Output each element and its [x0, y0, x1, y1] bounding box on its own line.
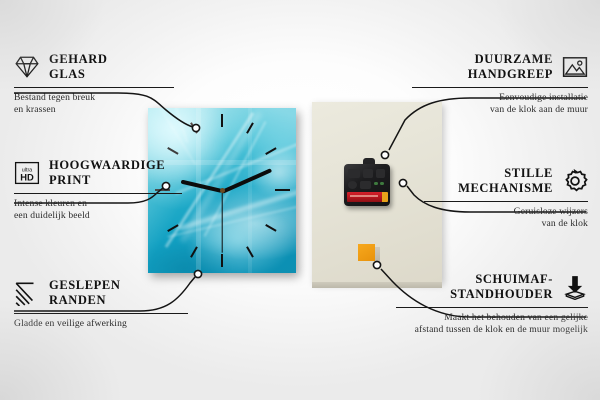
- feature-duurzame-handgreep: DUURZAME HANDGREEP Eenvoudige installati…: [412, 52, 588, 117]
- feature-title: GEHARD GLAS: [49, 52, 107, 82]
- feature-schuimafstandhouder: SCHUIMAF- STANDHOUDER Maakt het behouden…: [396, 272, 588, 337]
- clock-tick: [221, 254, 223, 267]
- down-arrow-pad-icon: [562, 274, 588, 300]
- feature-divider: [14, 313, 188, 314]
- feature-description: Gladde en veilige afwerking: [14, 318, 188, 331]
- feature-title-line1: DUURZAME: [468, 52, 553, 67]
- feature-description: Eenvoudige installatie van de klok aan d…: [412, 92, 588, 117]
- feature-divider: [14, 193, 182, 194]
- svg-text:HD: HD: [20, 171, 34, 182]
- feature-description: Bestand tegen breuk en krassen: [14, 92, 174, 117]
- clock-second-hand: [221, 191, 222, 253]
- feature-hoogwaardige-print: ultra HD HOOGWAARDIGE PRINT Intense kleu…: [14, 158, 182, 223]
- feature-title: STILLE MECHANISME: [458, 166, 553, 196]
- feature-title-line2: MECHANISME: [458, 181, 553, 196]
- battery-positive-tip: [382, 192, 388, 202]
- clock-center-cap: [220, 188, 225, 193]
- feature-description: Geruisloze wijzers van de klok: [424, 206, 588, 231]
- feature-heading: STILLE MECHANISME: [424, 166, 588, 196]
- infographic-canvas: GEHARD GLAS Bestand tegen breuk en krass…: [0, 0, 600, 400]
- feature-divider: [14, 87, 174, 88]
- aa-battery: [347, 192, 387, 202]
- feature-title-line2: GLAS: [49, 67, 107, 82]
- feature-title: HOOGWAARDIGE PRINT: [49, 158, 165, 188]
- picture-frame-icon: [562, 54, 588, 80]
- feature-heading: SCHUIMAF- STANDHOUDER: [396, 272, 588, 302]
- feature-heading: GESLEPEN RANDEN: [14, 278, 188, 308]
- feature-heading: DUURZAME HANDGREEP: [412, 52, 588, 82]
- gear-icon: [562, 168, 588, 194]
- feature-title-line1: GEHARD: [49, 52, 107, 67]
- feature-title-line2: RANDEN: [49, 293, 121, 308]
- feature-title-line2: PRINT: [49, 173, 165, 188]
- feature-heading: ultra HD HOOGWAARDIGE PRINT: [14, 158, 182, 188]
- feature-geslepen-randen: GESLEPEN RANDEN Gladde en veilige afwerk…: [14, 278, 188, 330]
- feature-divider: [396, 307, 588, 308]
- foam-spacer-pad: [358, 244, 375, 261]
- feature-title: GESLEPEN RANDEN: [49, 278, 121, 308]
- feature-title-line1: HOOGWAARDIGE: [49, 158, 165, 173]
- feature-description: Maakt het behouden van een gelijke afsta…: [396, 312, 588, 337]
- feature-divider: [424, 201, 588, 202]
- feature-title-line1: SCHUIMAF-: [450, 272, 553, 287]
- feature-stille-mechanisme: STILLE MECHANISME Geruisloze wijzers van…: [424, 166, 588, 231]
- battery-label-stripe: [350, 195, 378, 197]
- clock-tick: [275, 189, 290, 191]
- feature-title: DUURZAME HANDGREEP: [468, 52, 553, 82]
- feature-description: Intense kleuren en een duidelijk beeld: [14, 198, 182, 223]
- feature-title-line1: GESLEPEN: [49, 278, 121, 293]
- clock-tick: [221, 114, 223, 127]
- feature-gehard-glas: GEHARD GLAS Bestand tegen breuk en krass…: [14, 52, 174, 117]
- feature-heading: GEHARD GLAS: [14, 52, 174, 82]
- diamond-icon: [14, 54, 40, 80]
- feature-title-line1: STILLE: [458, 166, 553, 181]
- bevelled-edge-icon: [14, 280, 40, 306]
- feature-title-line2: STANDHOUDER: [450, 287, 553, 302]
- feature-title: SCHUIMAF- STANDHOUDER: [450, 272, 553, 302]
- feature-title-line2: HANDGREEP: [468, 67, 553, 82]
- ultra-hd-icon: ultra HD: [14, 160, 40, 186]
- foam-spacer-side: [375, 247, 380, 264]
- feature-divider: [412, 87, 588, 88]
